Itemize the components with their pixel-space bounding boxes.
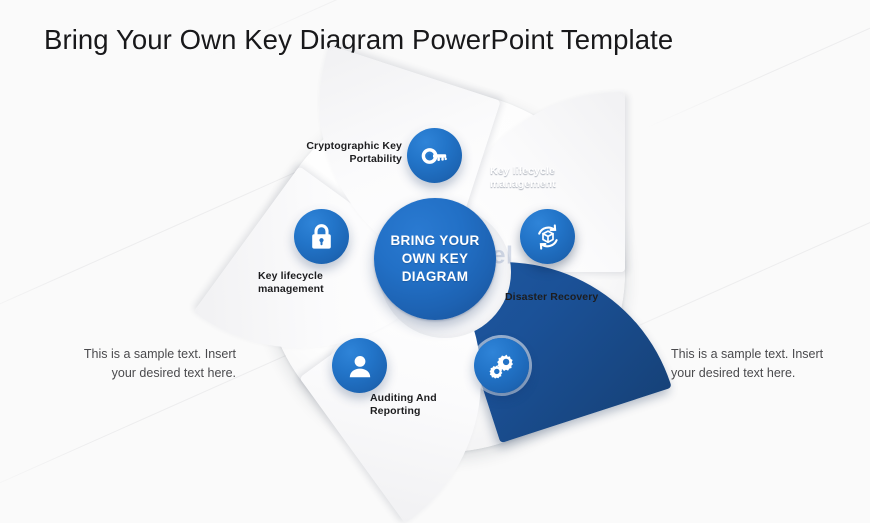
center-hub-label: BRING YOUR OWN KEY DIAGRAM	[390, 232, 479, 286]
segment-label-key-lifecycle-management-right: Key lifecycle management	[490, 165, 600, 192]
key-icon	[421, 142, 449, 170]
user-icon	[346, 352, 374, 380]
sample-text-left: This is a sample text. Insert your desir…	[66, 345, 236, 384]
page-title: Bring Your Own Key Diagram PowerPoint Te…	[44, 24, 673, 56]
gears-icon-bubble[interactable]	[474, 338, 529, 393]
sample-text-right: This is a sample text. Insert your desir…	[671, 345, 841, 384]
padlock-icon-bubble[interactable]	[294, 209, 349, 264]
key-icon-bubble[interactable]	[407, 128, 462, 183]
recycle-box-icon-bubble[interactable]	[520, 209, 575, 264]
segment-label-auditing-and-reporting: Auditing And Reporting	[370, 392, 490, 419]
center-hub-line-3: DIAGRAM	[390, 268, 479, 286]
segment-label-key-lifecycle-management-left: Key lifecycle management	[258, 270, 358, 297]
recycle-box-icon	[533, 222, 563, 252]
segment-label-disaster-recovery: Disaster Recovery	[505, 291, 605, 304]
gears-icon	[487, 351, 517, 381]
segment-label-cryptographic-key-portability: Cryptographic Key Portability	[302, 140, 402, 167]
byok-circular-diagram: SlideModel Cryptographic Key Portability…	[250, 88, 640, 460]
center-hub-line-1: BRING YOUR	[390, 232, 479, 250]
padlock-icon	[308, 222, 335, 251]
user-icon-bubble[interactable]	[332, 338, 387, 393]
center-hub-line-2: OWN KEY	[390, 250, 479, 268]
center-hub[interactable]: BRING YOUR OWN KEY DIAGRAM	[374, 198, 496, 320]
